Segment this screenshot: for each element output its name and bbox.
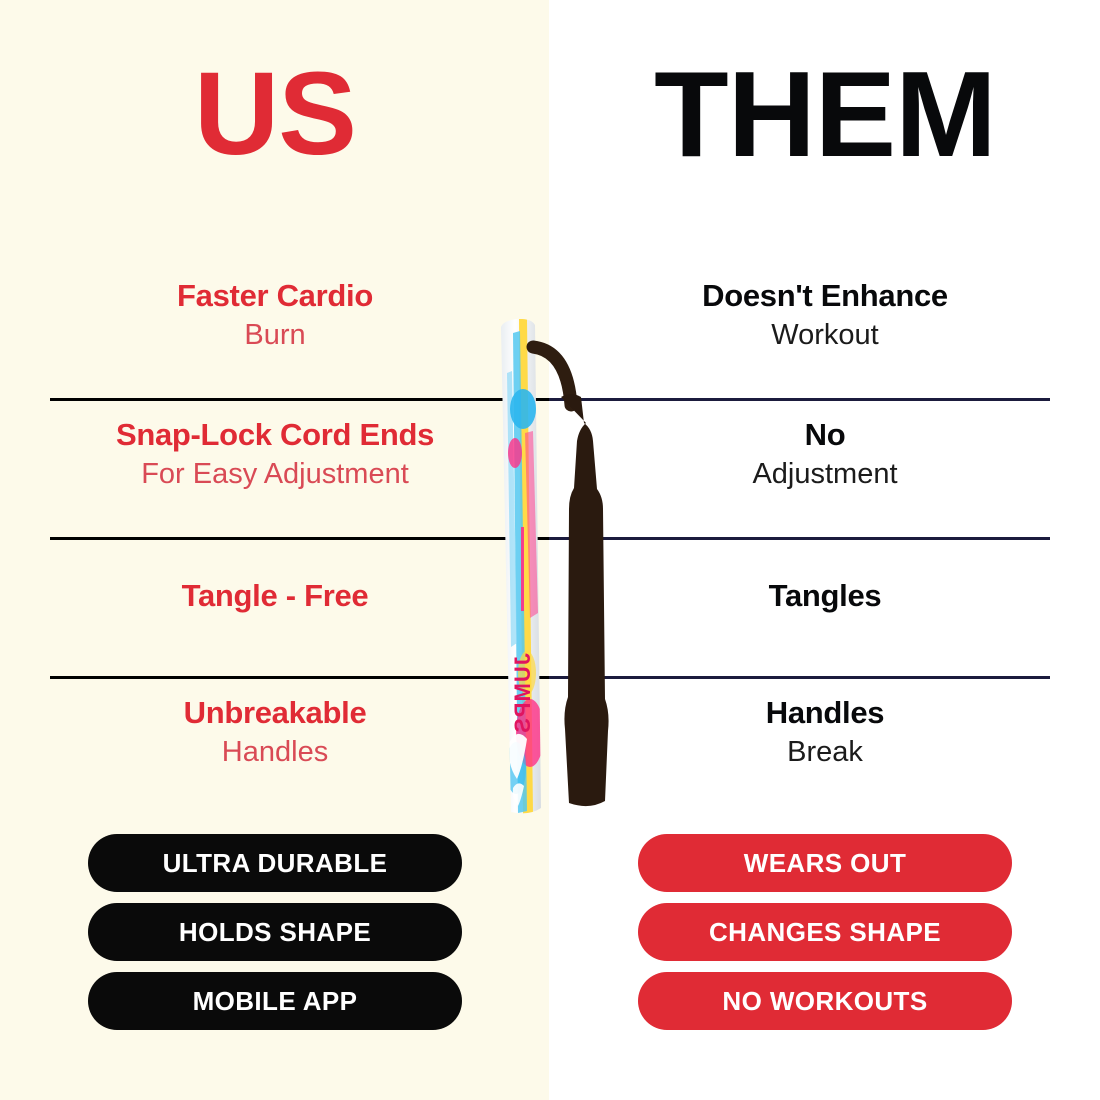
comparison-row: Faster Cardio Burn Doesn't Enhance Worko…	[0, 262, 1100, 401]
comparison-cell-left: Snap-Lock Cord Ends For Easy Adjustment	[0, 401, 550, 540]
comparison-right-title: Tangles	[769, 578, 882, 615]
comparison-right-title: Handles	[766, 695, 885, 732]
comparison-right-subtitle: Break	[787, 735, 863, 770]
comparison-left-subtitle: Burn	[244, 318, 305, 353]
comparison-cell-right: Handles Break	[550, 679, 1100, 818]
headers-row: US THEM	[0, 0, 1100, 200]
pill-wears-out[interactable]: WEARS OUT	[638, 834, 1012, 892]
pill-no-workouts[interactable]: NO WORKOUTS	[638, 972, 1012, 1030]
comparison-right-subtitle: Adjustment	[752, 457, 897, 492]
comparison-cell-left: Faster Cardio Burn	[0, 262, 550, 401]
comparison-left-title: Tangle - Free	[182, 578, 369, 615]
comparison-cell-right: No Adjustment	[550, 401, 1100, 540]
pill-column-us: ULTRA DURABLE HOLDS SHAPE MOBILE APP	[0, 834, 550, 1030]
header-title-us: US	[194, 55, 356, 173]
comparison-left-title: Unbreakable	[184, 695, 367, 732]
comparison-row: Tangle - Free Tangles	[0, 540, 1100, 679]
comparison-left-subtitle: Handles	[222, 735, 328, 770]
comparison-left-title: Faster Cardio	[177, 278, 373, 315]
comparison-cell-right: Tangles	[550, 540, 1100, 679]
header-title-them: THEM	[654, 53, 996, 175]
pill-holds-shape[interactable]: HOLDS SHAPE	[88, 903, 462, 961]
header-cell-them: THEM	[550, 0, 1100, 200]
pill-changes-shape[interactable]: CHANGES SHAPE	[638, 903, 1012, 961]
comparison-row: Unbreakable Handles Handles Break	[0, 679, 1100, 818]
comparison-cell-left: Tangle - Free	[0, 540, 550, 679]
pills-section: ULTRA DURABLE HOLDS SHAPE MOBILE APP WEA…	[0, 834, 1100, 1030]
comparison-rows: Faster Cardio Burn Doesn't Enhance Worko…	[0, 262, 1100, 818]
comparison-right-title: Doesn't Enhance	[702, 278, 948, 315]
comparison-infographic: US THEM Faster Cardio Burn Doesn't Enhan…	[0, 0, 1100, 1100]
comparison-right-title: No	[805, 417, 846, 454]
comparison-right-subtitle: Workout	[771, 318, 878, 353]
header-cell-us: US	[0, 0, 550, 200]
pill-column-them: WEARS OUT CHANGES SHAPE NO WORKOUTS	[550, 834, 1100, 1030]
pill-mobile-app[interactable]: MOBILE APP	[88, 972, 462, 1030]
comparison-cell-left: Unbreakable Handles	[0, 679, 550, 818]
comparison-left-title: Snap-Lock Cord Ends	[116, 417, 434, 454]
comparison-left-subtitle: For Easy Adjustment	[141, 457, 409, 492]
pill-ultra-durable[interactable]: ULTRA DURABLE	[88, 834, 462, 892]
comparison-cell-right: Doesn't Enhance Workout	[550, 262, 1100, 401]
comparison-row: Snap-Lock Cord Ends For Easy Adjustment …	[0, 401, 1100, 540]
